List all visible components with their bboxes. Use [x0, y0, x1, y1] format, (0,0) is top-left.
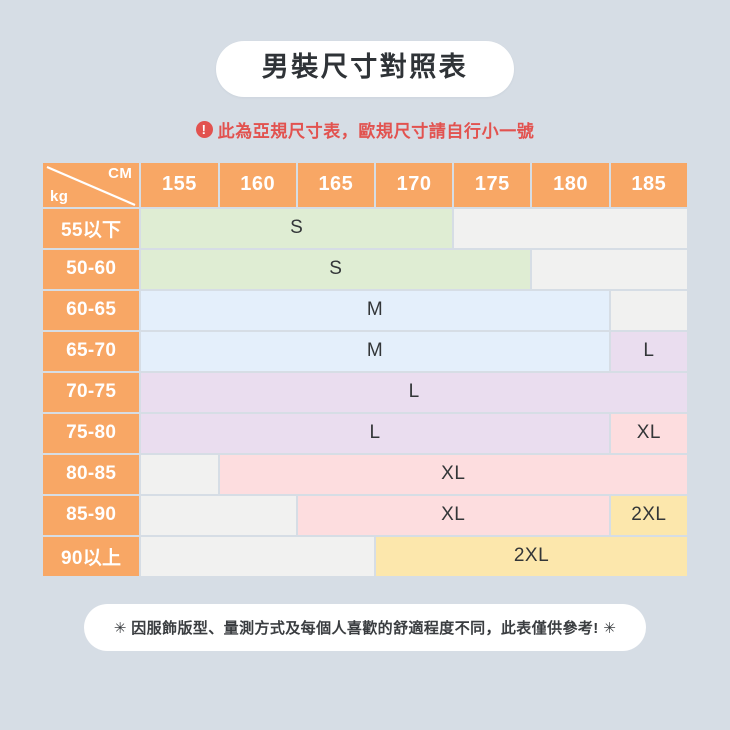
- footer-note: ✳ 因服飾版型、量測方式及每個人喜歡的舒適程度不同，此表僅供參考! ✳: [114, 617, 616, 638]
- column-header-185: 185: [611, 163, 687, 207]
- row-label-55以下: 55以下: [43, 209, 139, 248]
- size-cell-empty: [141, 496, 295, 535]
- table-body: 55以下S50-60S60-65M65-70ML70-75L75-80LXL80…: [43, 209, 687, 576]
- table-row: 60-65M: [43, 291, 687, 330]
- table-row: 65-70ML: [43, 332, 687, 371]
- row-label-65-70: 65-70: [43, 332, 139, 371]
- size-cell-s: S: [141, 209, 452, 248]
- size-cell-2xl: 2XL: [611, 496, 687, 535]
- size-cell-empty: [141, 537, 374, 576]
- footer-pill: ✳ 因服飾版型、量測方式及每個人喜歡的舒適程度不同，此表僅供參考! ✳: [84, 604, 646, 651]
- row-label-70-75: 70-75: [43, 373, 139, 412]
- table-header-row: CM kg 155160165170175180185: [43, 163, 687, 207]
- size-cell-empty: [454, 209, 687, 248]
- column-header-165: 165: [298, 163, 374, 207]
- row-label-75-80: 75-80: [43, 414, 139, 453]
- size-cell-m: M: [141, 332, 608, 371]
- row-label-50-60: 50-60: [43, 250, 139, 289]
- axis-label-kg: kg: [50, 188, 68, 205]
- page-title: 男裝尺寸對照表: [262, 53, 469, 83]
- column-header-175: 175: [454, 163, 530, 207]
- column-header-160: 160: [220, 163, 296, 207]
- size-table-container: CM kg 155160165170175180185 55以下S50-60S6…: [41, 161, 689, 578]
- size-cell-m: M: [141, 291, 608, 330]
- size-cell-empty: [611, 291, 687, 330]
- table-row: 70-75L: [43, 373, 687, 412]
- size-cell-l: L: [611, 332, 687, 371]
- axis-label-cm: CM: [108, 165, 132, 182]
- size-cell-empty: [141, 455, 217, 494]
- exclamation-circle-icon: !: [196, 121, 213, 138]
- table-row: 75-80LXL: [43, 414, 687, 453]
- table-row: 85-90XL2XL: [43, 496, 687, 535]
- table-row: 80-85XL: [43, 455, 687, 494]
- title-pill: 男裝尺寸對照表: [216, 41, 515, 97]
- axis-corner-cell: CM kg: [43, 163, 139, 207]
- column-header-180: 180: [532, 163, 608, 207]
- table-head: CM kg 155160165170175180185: [43, 163, 687, 207]
- size-cell-l: L: [141, 373, 687, 412]
- size-cell-l: L: [141, 414, 608, 453]
- size-cell-2xl: 2XL: [376, 537, 687, 576]
- size-chart-page: 男裝尺寸對照表 ! 此為亞規尺寸表，歐規尺寸請自行小一號 CM kg 15516…: [0, 0, 730, 730]
- table-row: 90以上2XL: [43, 537, 687, 576]
- warning-text: 此為亞規尺寸表，歐規尺寸請自行小一號: [218, 117, 535, 142]
- size-cell-s: S: [141, 250, 530, 289]
- size-cell-xl: XL: [611, 414, 687, 453]
- size-table: CM kg 155160165170175180185 55以下S50-60S6…: [41, 161, 689, 578]
- row-label-60-65: 60-65: [43, 291, 139, 330]
- row-label-90以上: 90以上: [43, 537, 139, 576]
- column-header-155: 155: [141, 163, 217, 207]
- column-header-170: 170: [376, 163, 452, 207]
- row-label-85-90: 85-90: [43, 496, 139, 535]
- size-cell-empty: [532, 250, 687, 289]
- size-cell-xl: XL: [220, 455, 687, 494]
- size-cell-xl: XL: [298, 496, 609, 535]
- row-label-80-85: 80-85: [43, 455, 139, 494]
- table-row: 50-60S: [43, 250, 687, 289]
- warning-banner: ! 此為亞規尺寸表，歐規尺寸請自行小一號: [196, 117, 535, 142]
- table-row: 55以下S: [43, 209, 687, 248]
